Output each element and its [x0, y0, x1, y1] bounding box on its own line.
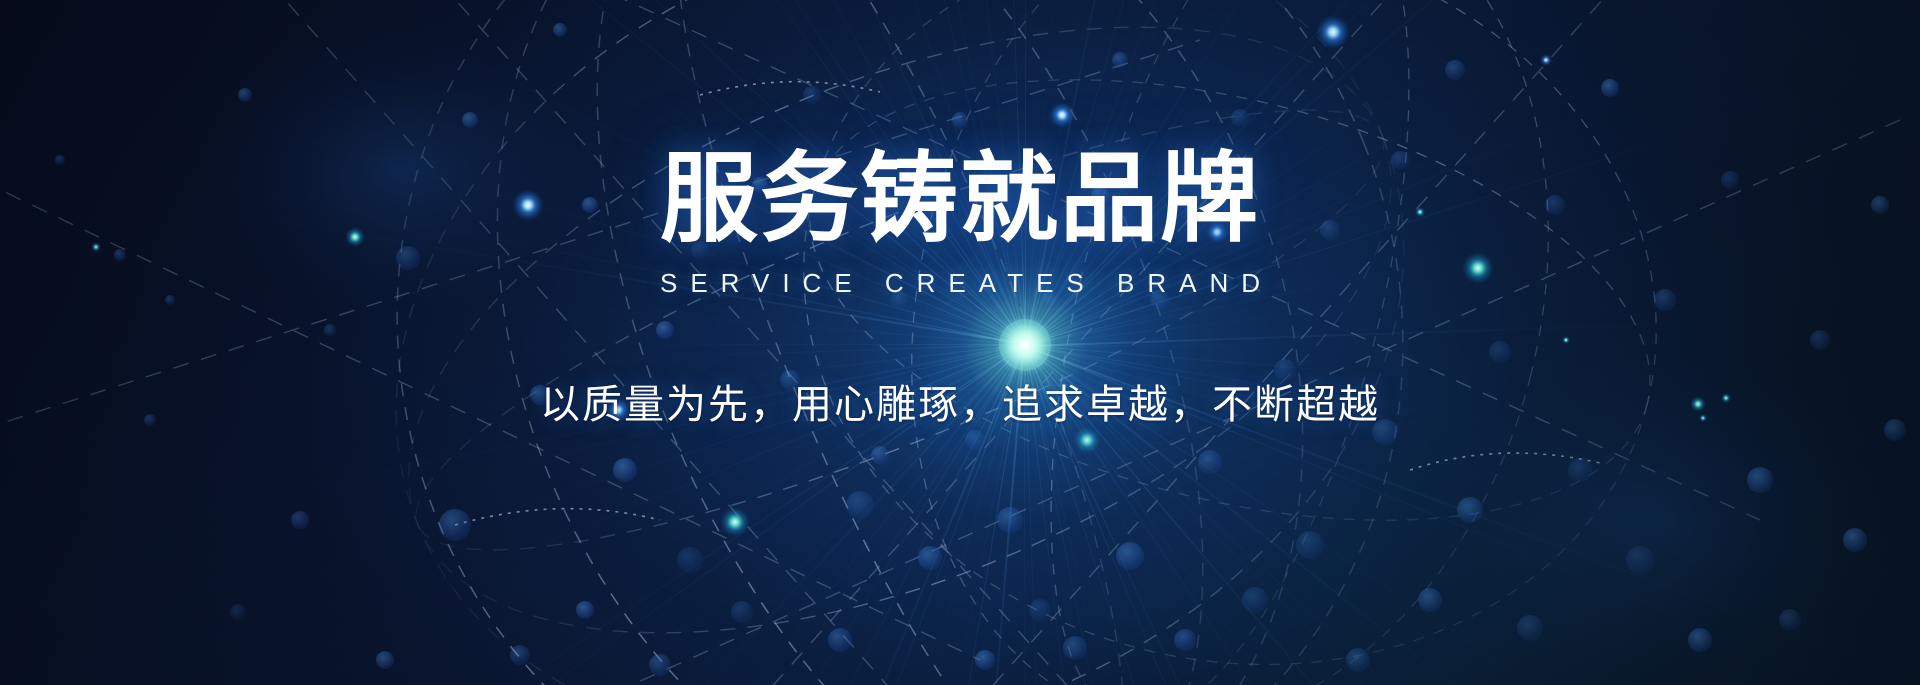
banner-tagline: 以质量为先，用心雕琢，追求卓越，不断超越 — [0, 372, 1920, 430]
vignette-overlay — [0, 0, 1920, 685]
banner-subtitle: SERVICE CREATES BRAND — [0, 268, 1920, 299]
hero-banner: 服务铸就品牌 SERVICE CREATES BRAND 以质量为先，用心雕琢，… — [0, 0, 1920, 685]
page-title: 服务铸就品牌 — [0, 148, 1920, 250]
